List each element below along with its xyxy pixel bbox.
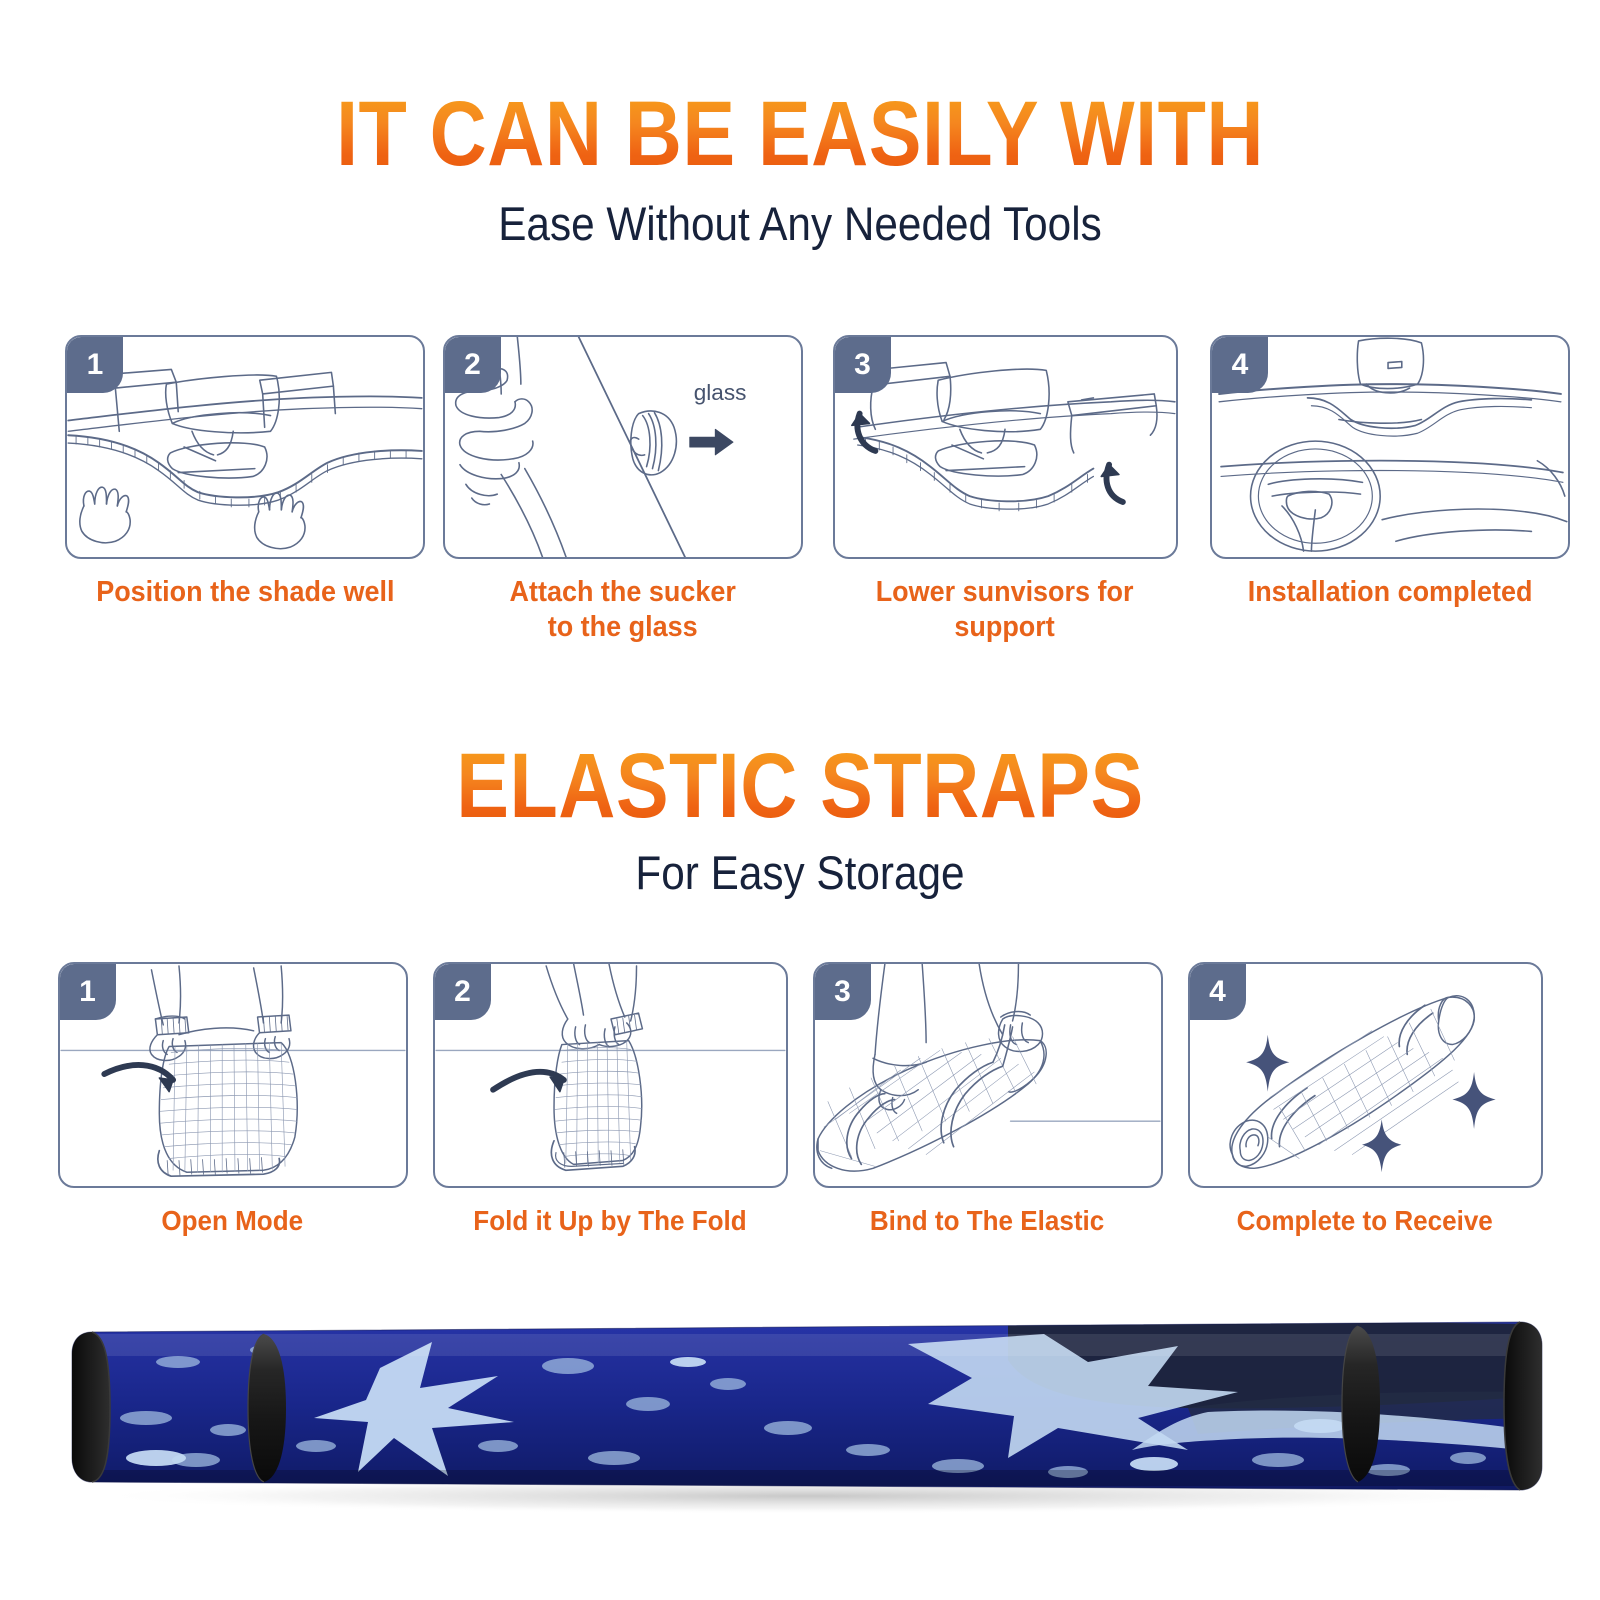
step-card-install-1: 1 — [45, 335, 445, 646]
step-caption-install-4: Installation completed — [1248, 575, 1533, 610]
step-number-badge: 2 — [435, 964, 491, 1020]
section-1-subtitle-block: Ease Without Any Needed Tools — [0, 196, 1600, 251]
product-end-cap-left — [72, 1332, 110, 1482]
step-number-badge: 2 — [445, 337, 501, 393]
step-caption-install-3: Lower sunvisors for support — [876, 575, 1134, 646]
step-panel-install-4: 4 — [1210, 335, 1570, 559]
step-number-badge: 4 — [1212, 337, 1268, 393]
step-number-badge: 3 — [835, 337, 891, 393]
storage-steps-row: 1 — [0, 962, 1600, 1238]
product-end-cap-right — [1504, 1322, 1542, 1490]
step-panel-install-1: 1 — [65, 335, 425, 559]
step-number-badge: 4 — [1190, 964, 1246, 1020]
step-number-badge: 1 — [60, 964, 116, 1020]
step-card-storage-4: 4 — [1175, 962, 1555, 1238]
step-number-badge: 1 — [67, 337, 123, 393]
step-number-badge: 3 — [815, 964, 871, 1020]
step-card-install-4: 4 — [1195, 335, 1585, 646]
infographic-page: IT CAN BE EASILY WITH Ease Without Any N… — [0, 0, 1600, 1600]
step-panel-storage-2: 2 — [433, 962, 788, 1188]
sparkle-icon — [1452, 1072, 1495, 1129]
section-2-subtitle: For Easy Storage — [80, 845, 1520, 900]
step-card-install-3: 3 — [815, 335, 1195, 646]
step-caption-install-2: Attach the sucker to the glass — [509, 575, 735, 646]
step-panel-storage-1: 1 — [58, 962, 408, 1188]
glass-annotation-text: glass — [693, 380, 746, 405]
step-panel-storage-3: 3 — [813, 962, 1163, 1188]
installation-steps-row: 1 — [0, 335, 1600, 646]
section-2-title: ELASTIC STRAPS — [112, 740, 1488, 832]
step-caption-storage-4: Complete to Receive — [1237, 1204, 1493, 1238]
elastic-strap-left — [248, 1334, 286, 1482]
section-2-subtitle-block: For Easy Storage — [0, 845, 1600, 900]
section-1-title-block: IT CAN BE EASILY WITH — [0, 88, 1600, 180]
step-panel-storage-4: 4 — [1188, 962, 1543, 1188]
section-1-title: IT CAN BE EASILY WITH — [112, 88, 1488, 180]
step-panel-install-3: 3 — [833, 335, 1178, 559]
step-card-storage-2: 2 — [420, 962, 800, 1238]
sparkle-icon — [1362, 1119, 1401, 1172]
section-2-title-block: ELASTIC STRAPS — [0, 740, 1600, 832]
sparkle-icon — [1246, 1035, 1289, 1092]
step-caption-storage-2: Fold it Up by The Fold — [473, 1204, 746, 1238]
rolled-sunshade-photo — [28, 1300, 1576, 1520]
step-card-install-2: 2 — [430, 335, 815, 646]
step-caption-storage-3: Bind to The Elastic — [870, 1204, 1104, 1238]
section-1-subtitle: Ease Without Any Needed Tools — [80, 196, 1520, 251]
step-card-storage-3: 3 — [800, 962, 1175, 1238]
step-panel-install-2: 2 — [443, 335, 803, 559]
step-caption-install-1: Position the shade well — [96, 575, 394, 610]
step-card-storage-1: 1 — [45, 962, 420, 1238]
step-caption-storage-1: Open Mode — [162, 1204, 304, 1238]
